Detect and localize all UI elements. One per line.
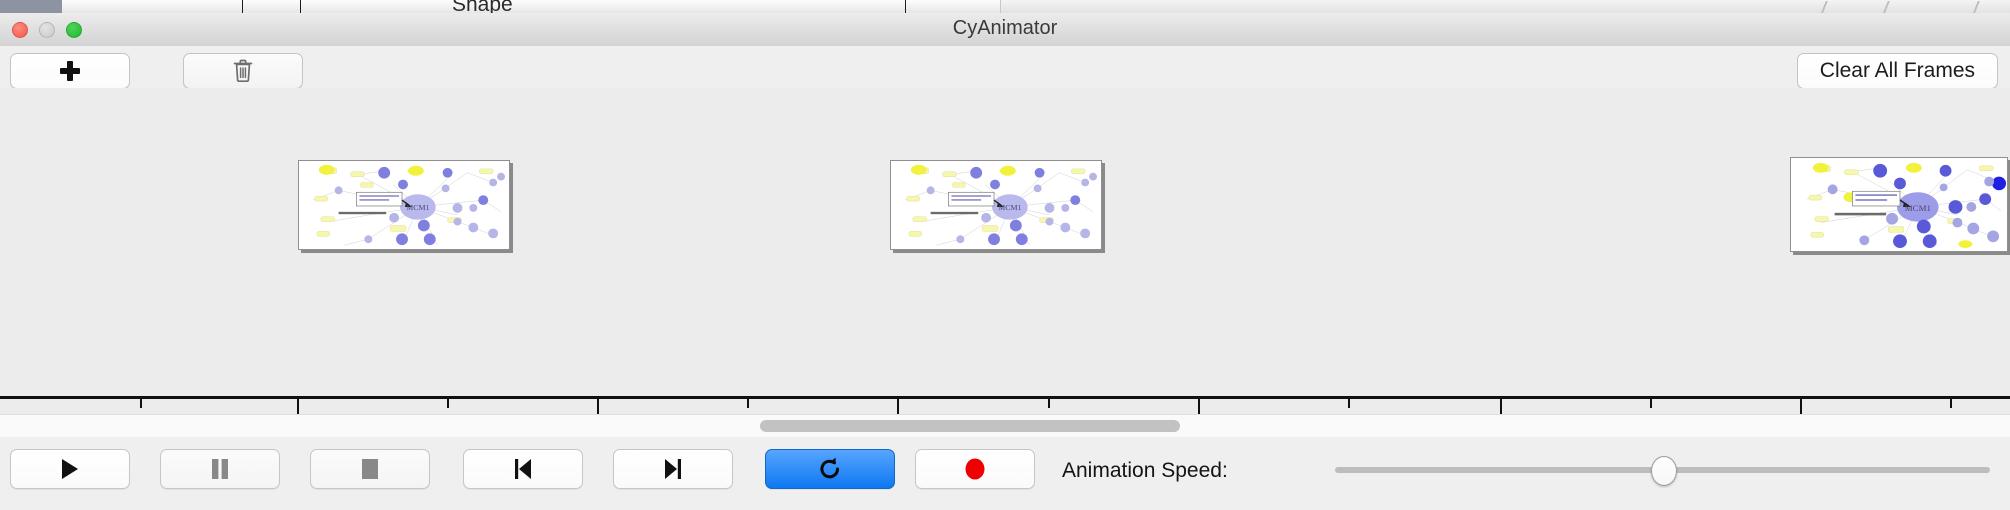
background-window-segment: [238, 0, 307, 13]
trash-icon: [233, 59, 253, 83]
ruler-tick-major: [1198, 399, 1200, 414]
cyanimator-window: Shape CyAnimator Clear All Frames: [0, 0, 2010, 510]
animation-speed-slider[interactable]: [1335, 467, 1990, 473]
frame-thumbnail-2[interactable]: MCM1: [890, 160, 1102, 250]
add-frame-button[interactable]: [10, 53, 130, 89]
stop-button[interactable]: [310, 449, 430, 489]
ruler-tick-minor: [1950, 399, 1952, 408]
ruler-tick-major: [897, 399, 899, 414]
loop-button[interactable]: [765, 449, 895, 489]
frame-thumbnail-3[interactable]: MCM1: [1790, 157, 2008, 252]
slider-thumb[interactable]: [1651, 456, 1677, 486]
timeline-ruler[interactable]: 2 13 14 15 16 17 18: [0, 396, 2010, 414]
ruler-tick-minor: [140, 399, 142, 408]
network-graph-thumbnail: MCM1: [1791, 158, 2007, 251]
background-window-dark-segment: [0, 0, 62, 13]
background-window-segment: [192, 0, 239, 13]
network-graph-thumbnail: MCM1: [299, 161, 509, 249]
skip-back-icon: [512, 457, 534, 481]
background-window-segment: [62, 0, 149, 13]
clear-all-frames-button[interactable]: Clear All Frames: [1797, 53, 1998, 89]
playback-control-bar: Animation Speed:: [0, 437, 2010, 510]
delete-frame-button[interactable]: [183, 53, 303, 89]
timeline-panel[interactable]: MCM1: [0, 88, 2010, 414]
svg-text:MCM1: MCM1: [406, 203, 429, 212]
pause-button[interactable]: [160, 449, 280, 489]
ruler-tick-major: [1800, 399, 1802, 414]
svg-text:MCM1: MCM1: [1905, 203, 1931, 213]
pause-icon: [210, 458, 230, 480]
background-window-tick: [242, 0, 243, 13]
title-bar: CyAnimator: [0, 13, 2010, 47]
ruler-tick-minor: [1048, 399, 1050, 408]
svg-text:MCM1: MCM1: [998, 203, 1021, 212]
record-button[interactable]: [915, 449, 1035, 489]
timeline-scrollbar[interactable]: [0, 414, 2010, 438]
toolbar: Clear All Frames: [0, 46, 2010, 89]
play-button[interactable]: [10, 449, 130, 489]
skip-forward-icon: [662, 457, 684, 481]
background-window-label: Shape: [452, 0, 513, 14]
play-icon: [59, 457, 81, 481]
plus-icon: [59, 60, 81, 82]
background-window-tick: [300, 0, 301, 13]
ruler-tick-major: [1500, 399, 1502, 414]
ruler-tick-minor: [1650, 399, 1652, 408]
clear-all-frames-label: Clear All Frames: [1820, 59, 1975, 83]
ruler-tick-minor: [747, 399, 749, 408]
record-icon: [963, 457, 987, 481]
scrollbar-thumb[interactable]: [760, 420, 1180, 432]
frame-thumbnail-1[interactable]: MCM1: [298, 160, 510, 250]
animation-speed-label: Animation Speed:: [1062, 459, 1228, 483]
ruler-tick-minor: [1348, 399, 1350, 408]
background-window-strip: Shape: [0, 0, 2010, 14]
network-graph-thumbnail: MCM1: [891, 161, 1101, 249]
ruler-tick-major: [297, 399, 299, 414]
background-window-segment: [306, 0, 441, 13]
skip-to-end-button[interactable]: [613, 449, 733, 489]
skip-to-start-button[interactable]: [463, 449, 583, 489]
stop-icon: [360, 458, 380, 480]
background-window-segment: [148, 0, 193, 13]
ruler-baseline: [0, 396, 2010, 399]
loop-icon: [817, 456, 843, 482]
background-window-tick: [905, 0, 906, 13]
background-window-segment: [890, 0, 1001, 13]
window-title: CyAnimator: [0, 17, 2010, 40]
ruler-tick-major: [597, 399, 599, 414]
ruler-tick-minor: [447, 399, 449, 408]
